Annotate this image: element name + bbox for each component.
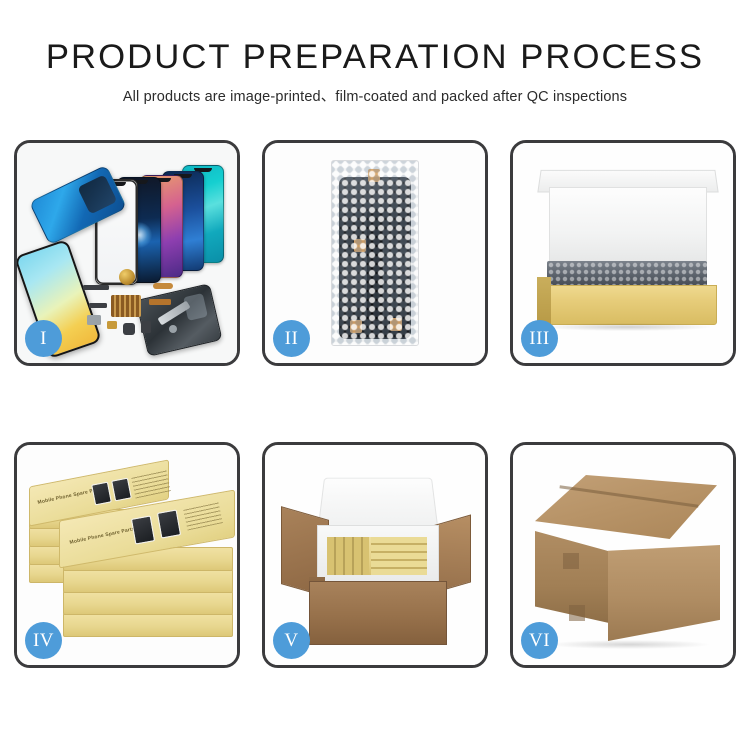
step-badge-1: I bbox=[25, 320, 62, 357]
metal-bracket-part bbox=[87, 315, 101, 325]
step-panel-2: II bbox=[262, 140, 488, 366]
speaker-part bbox=[119, 269, 135, 285]
stacked-box-front-3 bbox=[63, 569, 233, 593]
box-artwork-chip-front-a bbox=[131, 515, 155, 544]
step-badge-5: V bbox=[273, 622, 310, 659]
logic-board-part bbox=[111, 295, 141, 317]
carton-tape-upper bbox=[563, 553, 579, 569]
step-badge-3: III bbox=[521, 320, 558, 357]
product-preparation-infographic: PRODUCT PREPARATION PROCESS All products… bbox=[0, 0, 750, 750]
box-stack-group: Mobile Phone Spare Parts Mobile Phone Sp… bbox=[27, 467, 233, 653]
stacked-box-front-4 bbox=[63, 591, 233, 615]
contact-pad-part bbox=[107, 321, 117, 329]
connector-part bbox=[153, 283, 173, 289]
step-badge-6: VI bbox=[521, 622, 558, 659]
kraft-box-front bbox=[537, 285, 717, 325]
step-panel-4: Mobile Phone Spare Parts Mobile Phone Sp… bbox=[14, 442, 240, 668]
process-steps-grid: I II bbox=[14, 140, 736, 668]
bubble-wrap-bag bbox=[331, 160, 419, 346]
screw-set-part bbox=[169, 325, 177, 333]
drop-shadow bbox=[543, 323, 711, 331]
step-panel-6: VI bbox=[510, 442, 736, 668]
kraft-box-side bbox=[537, 277, 551, 325]
carton-front-face bbox=[309, 581, 447, 645]
page-subtitle: All products are image-printed、film-coat… bbox=[0, 76, 750, 106]
step-panel-5: V bbox=[262, 442, 488, 668]
yellow-boxes-inside bbox=[327, 537, 427, 575]
header: PRODUCT PREPARATION PROCESS All products… bbox=[0, 0, 750, 106]
stacked-box-front-5 bbox=[63, 613, 233, 637]
button-flex-part bbox=[89, 303, 107, 308]
foam-sheet bbox=[549, 187, 707, 265]
bubble-highlights bbox=[332, 161, 418, 345]
camera-flex-part bbox=[149, 299, 171, 305]
spare-parts-group bbox=[79, 269, 191, 347]
sim-tray-part bbox=[141, 321, 151, 333]
foam-box-lid bbox=[318, 478, 439, 529]
bubble-wrapped-contents bbox=[547, 261, 707, 287]
step-panel-1: I bbox=[14, 140, 240, 366]
drop-shadow bbox=[549, 640, 709, 649]
step-badge-2: II bbox=[273, 320, 310, 357]
step-panel-3: III bbox=[510, 140, 736, 366]
step-badge-4: IV bbox=[25, 622, 62, 659]
flex-cable-part bbox=[83, 285, 109, 290]
page-title: PRODUCT PREPARATION PROCESS bbox=[0, 0, 750, 76]
carton-tape-lower bbox=[569, 605, 585, 621]
box-artwork-chip-front-b bbox=[157, 509, 181, 538]
carton-top-face bbox=[535, 475, 717, 539]
camera-module-part bbox=[123, 323, 135, 335]
carton-right-face bbox=[608, 545, 720, 641]
